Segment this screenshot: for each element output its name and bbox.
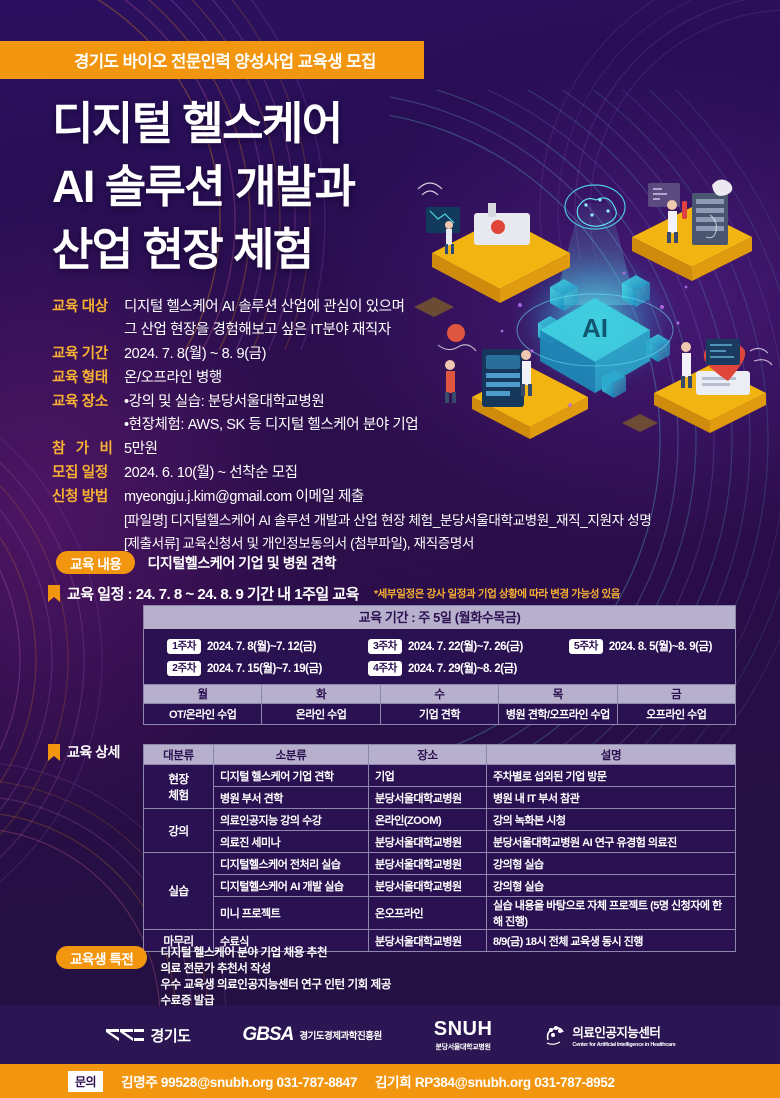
row-description: 8/9(금) 18시 전체 교육생 동시 진행 [487, 930, 736, 952]
svg-text:AI: AI [582, 313, 608, 343]
content-section: 교육 내용 디지털헬스케어 기업 및 병원 견학 [56, 551, 336, 574]
row-category: 현장 체험 [144, 765, 214, 809]
logo-label: 경기도경제과학진흥원 [299, 1028, 381, 1042]
info-email-text: myeongju.j.kim@gmail.com 이메일 제출 [124, 486, 651, 509]
title-line-1: 디지털 헬스케어 [52, 92, 354, 155]
table-header-row: 대분류 소분류 장소 설명 [144, 745, 736, 765]
table-row: 디지털헬스케어 AI 개발 실습 분당서울대학교병원 강의형 실습 [144, 875, 736, 897]
schedule-box-header: 교육 기간 : 주 5일 (월화수목금) [144, 606, 735, 629]
content-text: 디지털헬스케어 기업 및 병원 견학 [147, 553, 336, 573]
info-row: 참 가 비 5만원 [52, 438, 552, 461]
logo-snuh: SNUH 분당서울대학교병원 [434, 1018, 493, 1052]
table-row: 강의 의료인공지능 강의 수강 온라인(ZOOM) 강의 녹화본 시청 [144, 809, 736, 831]
content-chip: 교육 내용 [56, 551, 135, 574]
snuh-mark-icon: SNUH [434, 1018, 493, 1041]
weekday-header-row: 월 화 수 목 금 [144, 685, 736, 704]
info-row: 교육 형태 온/오프라인 병행 [52, 367, 552, 390]
row-category: 강의 [144, 809, 214, 853]
bookmark-icon [48, 744, 60, 761]
row-subcategory: 의료인공지능 강의 수강 [214, 809, 369, 831]
week-date: 2024. 7. 8(월)~7. 12(금) [207, 638, 316, 654]
page-title: 디지털 헬스케어 AI 솔루션 개발과 산업 현장 체험 [52, 92, 354, 281]
schedule-box-body: 1주차 2024. 7. 8(월)~7. 12(금) 2주차 2024. 7. … [144, 629, 735, 687]
info-value: 2024. 6. 10(월) ~ 선착순 모집 [124, 462, 552, 485]
info-row: 교육 장소 •강의 및 실습: 분당서울대학교병원 •현장체험: AWS, SK… [52, 391, 552, 437]
info-row: 신청 방법 myeongju.j.kim@gmail.com 이메일 제출 [파… [52, 486, 552, 555]
weekday-value: 기업 견학 [380, 704, 498, 725]
week-row: 3주차 2024. 7. 22(월)~7. 26(금) [368, 638, 523, 654]
weekday-value: 병원 견학/오프라인 수업 [499, 704, 617, 725]
benefits-chip: 교육생 특전 [56, 946, 147, 969]
week-date: 2024. 8. 5(월)~8. 9(금) [609, 638, 712, 654]
week-row: 1주차 2024. 7. 8(월)~7. 12(금) [167, 638, 322, 654]
info-value: 5만원 [124, 438, 552, 461]
week-date: 2024. 7. 22(월)~7. 26(금) [408, 638, 523, 654]
top-banner: 경기도 바이오 전문인력 양성사업 교육생 모집 [0, 41, 424, 79]
info-value: 디지털 헬스케어 AI 솔루션 산업에 관심이 있으며 그 산업 현장을 경험해… [124, 296, 552, 342]
row-place: 분당서울대학교병원 [369, 853, 487, 875]
info-text: 2024. 6. 10(월) ~ 선착순 모집 [124, 462, 552, 485]
detail-heading: 교육 상세 [48, 742, 120, 762]
info-label: 모집 일정 [52, 462, 124, 485]
contact-entry[interactable]: 김기희 RP384@snubh.org 031-787-8952 [375, 1071, 615, 1091]
week-badge: 2주차 [167, 661, 201, 676]
table-row: 현장 체험 디지털 헬스케어 기업 견학 기업 주차별로 섭외된 기업 방문 [144, 765, 736, 787]
row-description: 병원 내 IT 부서 참관 [487, 787, 736, 809]
ai-center-mark-icon [544, 1024, 566, 1046]
info-label: 참 가 비 [52, 438, 124, 461]
week-badge: 4주차 [368, 661, 402, 676]
week-badge: 5주차 [569, 639, 603, 654]
info-value: 온/오프라인 병행 [124, 367, 552, 390]
info-label: 교육 형태 [52, 367, 124, 390]
row-place: 온오프라인 [369, 897, 487, 930]
info-value: •강의 및 실습: 분당서울대학교병원 •현장체험: AWS, SK 등 디지털… [124, 391, 552, 437]
row-place: 분당서울대학교병원 [369, 875, 487, 897]
row-subcategory: 의료진 세미나 [214, 831, 369, 853]
row-description: 강의 녹화본 시청 [487, 809, 736, 831]
row-category: 실습 [144, 853, 214, 930]
contact-footer: 문의 김명주 99528@snubh.org 031-787-8847 김기희 … [0, 1064, 780, 1098]
row-place: 분당서울대학교병원 [369, 831, 487, 853]
row-description: 주차별로 섭외된 기업 방문 [487, 765, 736, 787]
row-description: 강의형 실습 [487, 875, 736, 897]
bookmark-icon [48, 585, 60, 602]
row-subcategory: 미니 프로젝트 [214, 897, 369, 930]
week-column: 5주차 2024. 8. 5(월)~8. 9(금) [569, 638, 712, 676]
weekday-value: 온라인 수업 [262, 704, 380, 725]
week-badge: 1주차 [167, 639, 201, 654]
weekday-header: 수 [380, 685, 498, 704]
schedule-heading: 교육 일정 : 24. 7. 8 ~ 24. 8. 9 기간 내 1주일 교육 … [48, 583, 620, 604]
benefit-item: 디지털 헬스케어 분야 기업 채용 추천 [160, 945, 391, 961]
info-row: 교육 대상 디지털 헬스케어 AI 솔루션 산업에 관심이 있으며 그 산업 현… [52, 296, 552, 342]
row-subcategory: 디지털 헬스케어 기업 견학 [214, 765, 369, 787]
row-description: 강의형 실습 [487, 853, 736, 875]
info-text: 5만원 [124, 438, 552, 461]
info-text: •현장체험: AWS, SK 등 디지털 헬스케어 분야 기업 [124, 414, 552, 437]
info-text: 그 산업 현장을 경험해보고 싶은 IT분야 재직자 [124, 319, 552, 342]
logo-ai-center: 의료인공지능센터 Center for Artificial Intellige… [544, 1022, 675, 1048]
poster-root: 경기도 바이오 전문인력 양성사업 교육생 모집 디지털 헬스케어 AI 솔루션… [0, 0, 780, 1098]
week-column: 3주차 2024. 7. 22(월)~7. 26(금) 4주차 2024. 7.… [368, 638, 523, 676]
row-subcategory: 디지털헬스케어 전처리 실습 [214, 853, 369, 875]
info-row: 모집 일정 2024. 6. 10(월) ~ 선착순 모집 [52, 462, 552, 485]
week-date: 2024. 7. 29(월)~8. 2(금) [408, 660, 517, 676]
benefits-list: 디지털 헬스케어 분야 기업 채용 추천 의료 전문가 추천서 작성 우수 교육… [160, 945, 391, 1009]
weekday-grid: 월 화 수 목 금 OT/온라인 수업 온라인 수업 기업 견학 병원 견학/오… [143, 684, 736, 725]
column-header: 장소 [369, 745, 487, 765]
contact-tag: 문의 [68, 1071, 103, 1092]
info-row: 교육 기간 2024. 7. 8(월) ~ 8. 9(금) [52, 343, 552, 366]
logo-label: 경기도 [151, 1025, 191, 1046]
benefits-section: 교육생 특전 디지털 헬스케어 분야 기업 채용 추천 의료 전문가 추천서 작… [56, 945, 391, 1009]
info-label: 교육 기간 [52, 343, 124, 366]
logo-sublabel: Center for Artificial Intelligence in He… [572, 1042, 675, 1048]
row-place: 기업 [369, 765, 487, 787]
info-label: 신청 방법 [52, 486, 124, 509]
week-row: 4주차 2024. 7. 29(월)~8. 2(금) [368, 660, 523, 676]
deco-plate-bottom [622, 414, 658, 432]
title-line-2: AI 솔루션 개발과 [52, 155, 354, 218]
info-value: 2024. 7. 8(월) ~ 8. 9(금) [124, 343, 552, 366]
weekday-header: 목 [499, 685, 617, 704]
week-date: 2024. 7. 15(월)~7. 19(금) [207, 660, 322, 676]
contact-entry[interactable]: 김명주 99528@snubh.org 031-787-8847 [121, 1071, 357, 1091]
info-text: •강의 및 실습: 분당서울대학교병원 [124, 391, 552, 414]
table-row: 실습 디지털헬스케어 전처리 실습 분당서울대학교병원 강의형 실습 [144, 853, 736, 875]
info-label: 교육 장소 [52, 391, 124, 414]
table-row: 의료진 세미나 분당서울대학교병원 분당서울대학교병원 AI 연구 유경험 의료… [144, 831, 736, 853]
title-line-3: 산업 현장 체험 [52, 218, 354, 281]
top-banner-text: 경기도 바이오 전문인력 양성사업 교육생 모집 [48, 48, 376, 72]
logo-sublabel: 분당서울대학교병원 [435, 1042, 490, 1052]
week-row: 5주차 2024. 8. 5(월)~8. 9(금) [569, 638, 712, 654]
benefit-item: 의료 전문가 추천서 작성 [160, 961, 391, 977]
row-description: 실습 내용을 바탕으로 자체 프로젝트 (5명 신청자에 한해 진행) [487, 897, 736, 930]
column-header: 설명 [487, 745, 736, 765]
column-header: 대분류 [144, 745, 214, 765]
info-text: 2024. 7. 8(월) ~ 8. 9(금) [124, 343, 552, 366]
weekday-value: OT/온라인 수업 [144, 704, 262, 725]
row-subcategory: 병원 부서 견학 [214, 787, 369, 809]
week-column: 1주차 2024. 7. 8(월)~7. 12(금) 2주차 2024. 7. … [167, 638, 322, 676]
sponsor-logo-bar: 경기도 GBSA 경기도경제과학진흥원 SNUH 분당서울대학교병원 의료인공지… [0, 1006, 780, 1064]
info-text: 디지털 헬스케어 AI 솔루션 산업에 관심이 있으며 [124, 296, 552, 319]
logo-gyeonggi-do: 경기도 [105, 1025, 191, 1046]
info-text: 온/오프라인 병행 [124, 367, 552, 390]
table-row: 병원 부서 견학 분당서울대학교병원 병원 내 IT 부서 참관 [144, 787, 736, 809]
logo-label: 의료인공지능센터 [572, 1022, 675, 1041]
schedule-box: 교육 기간 : 주 5일 (월화수목금) 1주차 2024. 7. 8(월)~7… [143, 605, 736, 688]
detail-title: 교육 상세 [67, 742, 120, 762]
week-row: 2주차 2024. 7. 15(월)~7. 19(금) [167, 660, 322, 676]
row-place: 분당서울대학교병원 [369, 787, 487, 809]
curriculum-table: 대분류 소분류 장소 설명 현장 체험 디지털 헬스케어 기업 견학 기업 주차… [143, 744, 736, 952]
gbsa-mark-icon: GBSA [242, 1024, 293, 1046]
benefit-item: 우수 교육생 의료인공지능센터 연구 인턴 기회 제공 [160, 977, 391, 993]
row-place: 온라인(ZOOM) [369, 809, 487, 831]
row-description: 분당서울대학교병원 AI 연구 유경험 의료진 [487, 831, 736, 853]
info-list: 교육 대상 디지털 헬스케어 AI 솔루션 산업에 관심이 있으며 그 산업 현… [52, 296, 552, 556]
logo-gbsa: GBSA 경기도경제과학진흥원 [242, 1024, 381, 1046]
schedule-title: 교육 일정 : 24. 7. 8 ~ 24. 8. 9 기간 내 1주일 교육 [67, 583, 359, 604]
info-value: myeongju.j.kim@gmail.com 이메일 제출 [파일명] 디지… [124, 486, 651, 555]
weekday-header: 화 [262, 685, 380, 704]
schedule-note: *세부일정은 강사 일정과 기업 상황에 따라 변경 가능성 있음 [374, 586, 620, 601]
weekday-header: 월 [144, 685, 262, 704]
weekday-header: 금 [617, 685, 735, 704]
table-row: 미니 프로젝트 온오프라인 실습 내용을 바탕으로 자체 프로젝트 (5명 신청… [144, 897, 736, 930]
column-header: 소분류 [214, 745, 369, 765]
weekday-value: 오프라인 수업 [617, 704, 735, 725]
week-badge: 3주차 [368, 639, 402, 654]
info-label: 교육 대상 [52, 296, 124, 319]
gyeonggi-mark-icon [105, 1027, 145, 1043]
row-subcategory: 디지털헬스케어 AI 개발 실습 [214, 875, 369, 897]
info-text: [파일명] 디지털헬스케어 AI 솔루션 개발과 산업 현장 체험_분당서울대학… [124, 509, 651, 532]
weekday-value-row: OT/온라인 수업 온라인 수업 기업 견학 병원 견학/오프라인 수업 오프라… [144, 704, 736, 725]
